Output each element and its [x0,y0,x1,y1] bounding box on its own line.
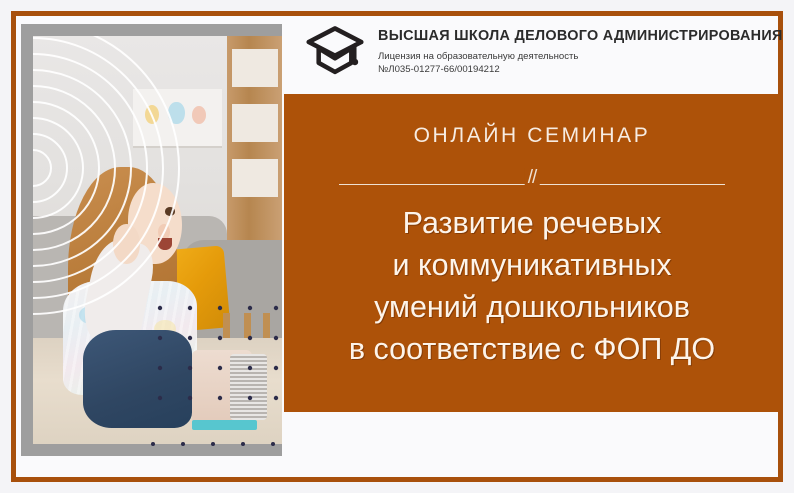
photo-girl-hand [113,224,140,265]
photo-toy-panel [230,354,267,419]
event-type-label: ОНЛАЙН СЕМИНАР [414,124,651,148]
title-line: умений дошкольников [297,286,767,328]
title-line: Развитие речевых [297,202,767,244]
license-line-2: №Л035-01277-66/00194212 [378,64,783,77]
photo-girl-jeans [83,330,193,428]
graduation-cap-icon [306,24,364,80]
photo-bookshelf [227,36,282,248]
photo-girl-eye [165,207,175,215]
dot-row-decoration [151,438,281,450]
title-line: в соответствие с ФОП ДО [297,328,767,370]
photo-image [33,36,282,444]
photo-wall-picture [133,89,223,148]
photo-panel [21,24,282,456]
license-info: Лицензия на образовательную деятельность… [378,51,783,76]
organization-name: ВЫСШАЯ ШКОЛА ДЕЛОВОГО АДМИНИСТРИРОВАНИЯ [378,28,783,45]
title-line: и коммуникативных [297,244,767,286]
license-line-1: Лицензия на образовательную деятельность [378,51,783,64]
header: ВЫСШАЯ ШКОЛА ДЕЛОВОГО АДМИНИСТРИРОВАНИЯ … [306,22,746,80]
announcement-panel: ОНЛАЙН СЕМИНАР // Развитие речевых и ком… [284,94,780,412]
decorative-divider: // [339,170,725,190]
poster-root: ВЫСШАЯ ШКОЛА ДЕЛОВОГО АДМИНИСТРИРОВАНИЯ … [0,0,794,493]
seminar-title: Развитие речевых и коммуникативных умени… [297,202,767,370]
organization-block: ВЫСШАЯ ШКОЛА ДЕЛОВОГО АДМИНИСТРИРОВАНИЯ … [378,22,783,77]
photo-toy-base [192,420,257,430]
divider-slash-ornament: // [525,168,540,187]
